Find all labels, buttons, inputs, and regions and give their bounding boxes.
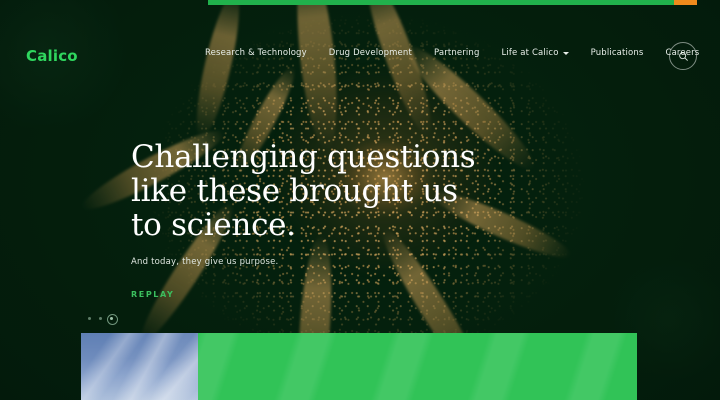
nav-item-publications[interactable]: Publications [591, 48, 644, 58]
chevron-down-icon [563, 52, 569, 55]
progress-bar-accent [674, 0, 697, 5]
nav-label: Drug Development [329, 48, 412, 58]
search-icon [678, 51, 689, 62]
green-feature-panel[interactable] [198, 333, 637, 400]
slide-progress-bar [0, 0, 720, 5]
nav-label: Partnering [434, 48, 480, 58]
carousel-dot-3-active[interactable] [110, 317, 113, 320]
hero-content: Challenging questions like these brought… [131, 140, 475, 299]
carousel-dot-1[interactable] [88, 317, 91, 320]
headline-line: Challenging questions [131, 140, 475, 174]
headline-line: to science. [131, 208, 475, 242]
progress-bar-fill [208, 0, 674, 5]
nav-item-life-at-calico[interactable]: Life at Calico [502, 48, 569, 58]
nav-item-drug-development[interactable]: Drug Development [329, 48, 412, 58]
page-root: Calico Research & Technology Drug Develo… [0, 0, 720, 400]
hero-subheadline: And today, they give us purpose. [131, 257, 475, 267]
carousel-dot-2[interactable] [99, 317, 102, 320]
carousel-indicators [88, 317, 113, 320]
sky-photo-card[interactable] [81, 333, 198, 400]
replay-button[interactable]: REPLAY [131, 290, 475, 299]
nav-label: Publications [591, 48, 644, 58]
site-header: Calico Research & Technology Drug Develo… [0, 0, 720, 100]
search-button[interactable] [669, 42, 697, 70]
nav-label: Research & Technology [205, 48, 307, 58]
nav-item-partnering[interactable]: Partnering [434, 48, 480, 58]
main-navigation: Research & Technology Drug Development P… [205, 48, 699, 58]
site-logo[interactable]: Calico [26, 47, 78, 65]
headline-line: like these brought us [131, 174, 475, 208]
nav-item-research-technology[interactable]: Research & Technology [205, 48, 307, 58]
nav-label: Life at Calico [502, 48, 559, 58]
hero-headline: Challenging questions like these brought… [131, 140, 475, 242]
